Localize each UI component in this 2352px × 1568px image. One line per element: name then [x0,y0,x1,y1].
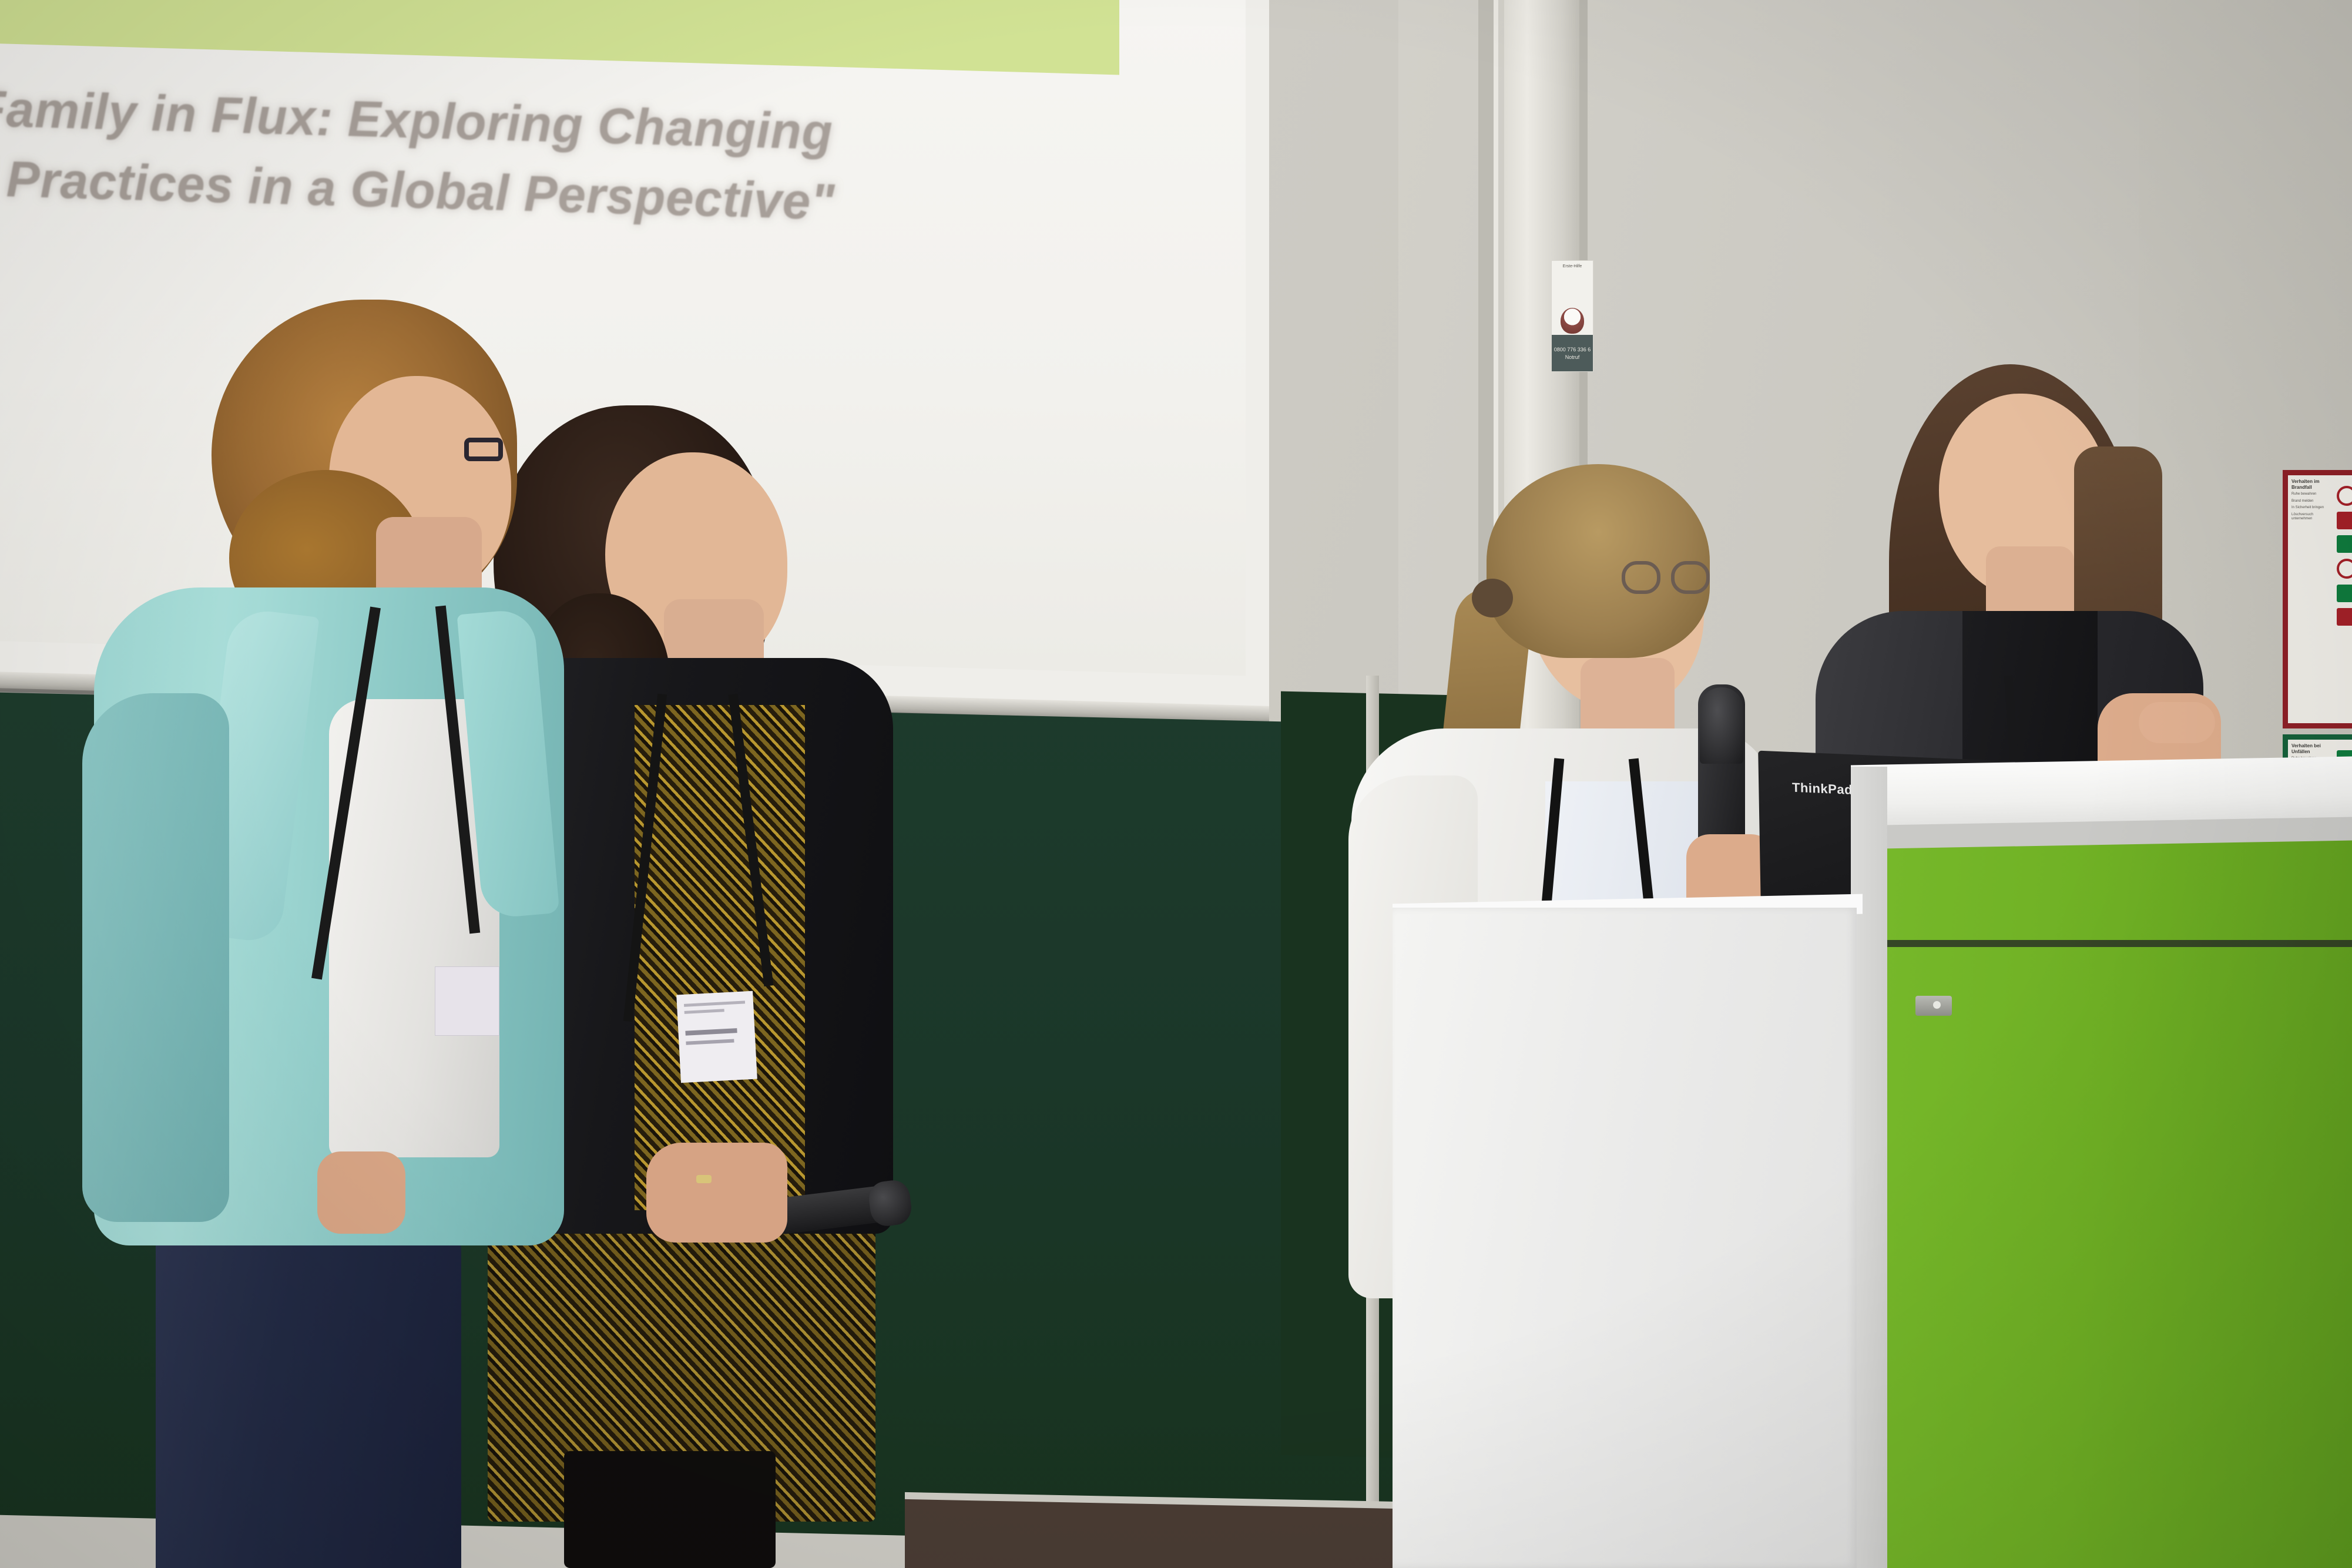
person-3-lens-right [1671,561,1710,594]
glasses-icon [1622,561,1716,594]
person-2-name-badge [676,991,757,1083]
cabinet-lock-icon[interactable] [1915,996,1952,1016]
person-2-legs [564,1451,776,1568]
stage-floor [905,1499,1398,1568]
emergency-exit-icon [2337,535,2352,553]
fire-poster-left-s2: Brand melden [2291,499,2331,504]
fire-poster-pictograms [2334,479,2352,720]
person-2-hands [646,1143,787,1243]
sticker-phone-number: 0800 776 336 6 [1554,347,1591,352]
person-1-arm [82,693,229,1222]
fire-poster-left-s3: In Sicherheit bringen [2291,506,2331,511]
sticker-footer: Notruf [1565,354,1580,360]
photo-scene: d Family in Flux: Exploring Changing nd … [0,0,2352,1568]
fire-poster-left-s1: Ruhe bewahren [2291,492,2331,497]
fire-alarm-icon [2337,512,2352,529]
fire-poster-left-heading: Verhalten im Brandfall [2291,479,2331,490]
badge-line-2 [685,1009,724,1014]
microphone-right-grille [1700,687,1743,764]
no-smoking-icon [2337,486,2352,506]
no-lift-icon [2337,559,2352,579]
first-aid-icon [2337,585,2352,602]
aid-poster-left-heading: Verhalten bei Unfällen [2291,743,2331,754]
badge-name-line [685,1028,737,1036]
person-2-ring [696,1175,712,1183]
thinkpad-logo-text: ThinkPad [1792,780,1853,797]
thinkpad-logo: ThinkPad• [1792,780,1858,798]
cabinet-drawer-seam [1883,940,2352,947]
fire-extinguisher-icon [2337,608,2352,626]
sticker-phone-bar: 0800 776 336 6 Notruf [1552,335,1593,371]
fire-poster-left-s4: Löschversuch unternehmen [2291,513,2331,522]
lectern-front-panel [1393,908,1857,1568]
sticker-heading: Erste-Hilfe [1552,261,1593,307]
emergency-first-aid-sticker: Erste-Hilfe 0800 776 336 6 Notruf [1551,260,1593,372]
person-4-fingers [2139,702,2215,743]
person-3-lens-left [1622,561,1660,594]
badge-affiliation-line [686,1039,734,1045]
person-1-jeans [156,1216,461,1568]
green-cabinet[interactable] [1883,840,2352,1568]
person-1-hand [317,1151,405,1234]
person-2-leopard-dress [635,705,805,1210]
badge-line-1 [684,1000,745,1006]
glasses-icon [464,438,503,461]
first-aid-person-icon [1561,308,1584,334]
person-1-name-badge [435,966,499,1036]
fire-safety-poster: Verhalten im Brandfall Ruhe bewahren Bra… [2283,470,2352,728]
person-3-hair-tie [1472,579,1513,617]
